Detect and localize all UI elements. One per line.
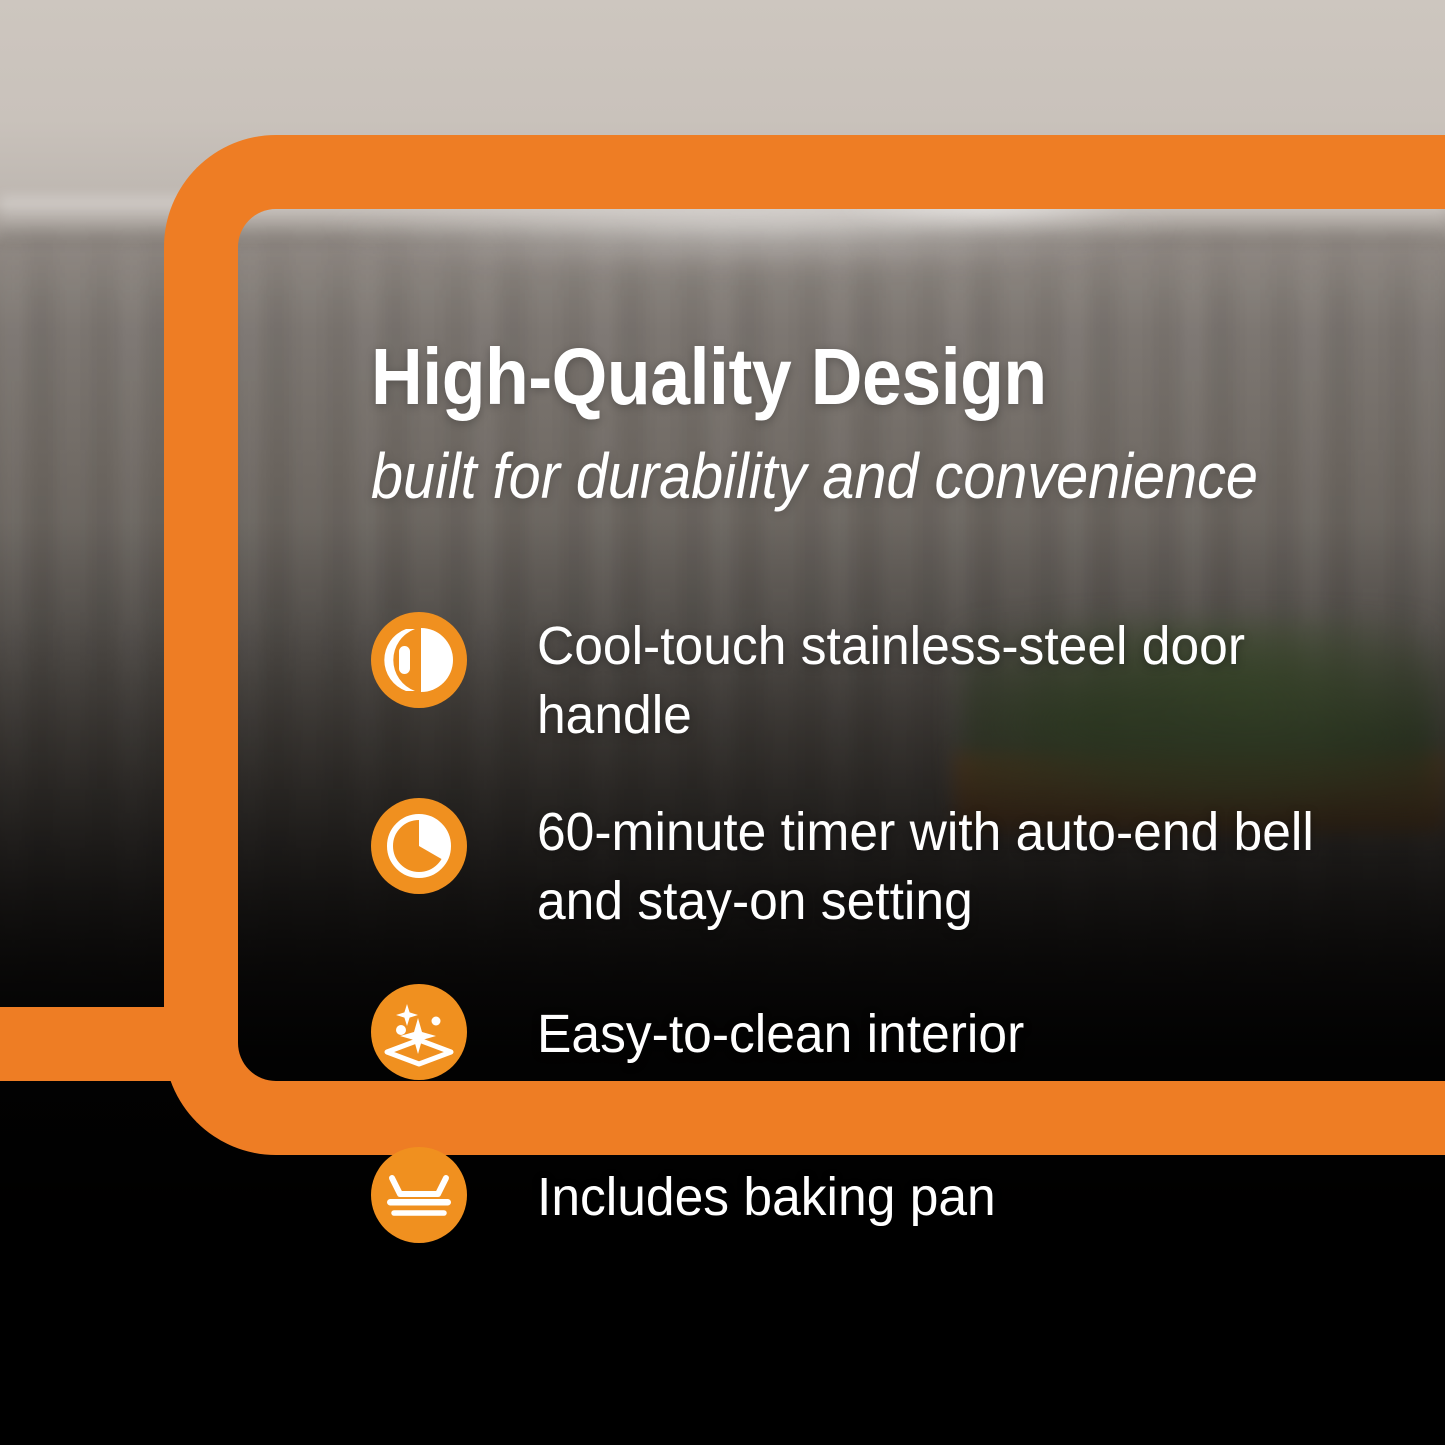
list-item: Cool-touch stainless-steel door handle (371, 612, 1377, 750)
list-item-label: 60-minute timer with auto-end bell and s… (537, 796, 1339, 936)
page-title: High-Quality Design (371, 337, 1047, 417)
sparkle-surface-icon (371, 984, 467, 1080)
page-subtitle: built for durability and convenience (371, 444, 1258, 508)
list-item: 60-minute timer with auto-end bell and s… (371, 798, 1377, 936)
list-item-label: Easy-to-clean interior (537, 998, 1024, 1069)
list-item: Easy-to-clean interior (371, 984, 1047, 1080)
content-layer: High-Quality Design built for durability… (0, 0, 1445, 1445)
timer-pie-icon (371, 798, 467, 894)
product-feature-infographic: High-Quality Design built for durability… (0, 0, 1445, 1445)
oven-door-handle-icon (371, 612, 467, 708)
list-item: Includes baking pan (371, 1147, 1017, 1243)
list-item-label: Includes baking pan (537, 1161, 996, 1232)
list-item-label: Cool-touch stainless-steel door handle (537, 610, 1339, 750)
baking-pan-icon (371, 1147, 467, 1243)
